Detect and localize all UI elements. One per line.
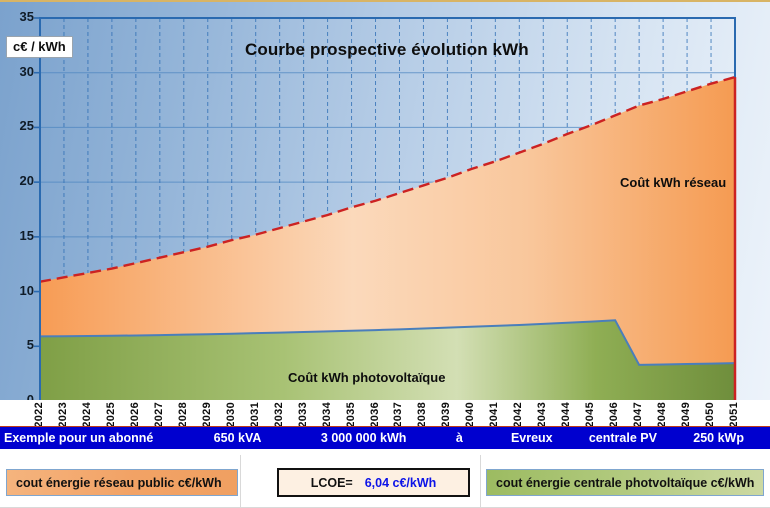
series-label-pv-cost: Coût kWh photovoltaïque — [288, 370, 445, 385]
info-subscribed-power: 650 kVA — [181, 431, 293, 445]
x-axis-tick: 2037 — [392, 402, 406, 428]
x-axis-tick: 2047 — [632, 402, 646, 428]
lcoe-value: 6,04 c€/kWh — [365, 476, 437, 490]
x-axis-tick: 2040 — [464, 402, 478, 428]
x-axis-tick: 2050 — [704, 402, 718, 428]
x-axis-tick: 2033 — [297, 402, 311, 428]
y-axis-tick: 25 — [4, 118, 34, 133]
plot-series — [40, 77, 735, 401]
series-label-grid-cost: Coût kWh réseau — [620, 175, 726, 190]
x-axis-tick: 2046 — [608, 402, 622, 428]
legend-pv-cost: cout énergie centrale photvoltaïque c€/k… — [486, 469, 764, 496]
info-bar: Exemple pour un abonné 650 kVA 3 000 000… — [0, 426, 770, 449]
x-axis-tick: 2024 — [81, 402, 95, 428]
x-axis-tick: 2049 — [680, 402, 694, 428]
x-axis-tick: 2025 — [105, 402, 119, 428]
x-axis-tick: 2044 — [560, 402, 574, 428]
x-axis-tick: 2032 — [273, 402, 287, 428]
x-axis-tick: 2028 — [177, 402, 191, 428]
y-axis-tick: 30 — [4, 64, 34, 79]
cell-divider — [480, 455, 481, 508]
x-axis-tick: 2026 — [129, 402, 143, 428]
x-axis-tick: 2045 — [584, 402, 598, 428]
chart-title: Courbe prospective évolution kWh — [245, 40, 529, 60]
x-axis-tick: 2048 — [656, 402, 670, 428]
info-plant-capacity: 250 kWp — [667, 431, 770, 445]
legend-grid-cost: cout énergie réseau public c€/kWh — [6, 469, 238, 496]
legend-grid-cost-label: cout énergie réseau public c€/kWh — [16, 476, 222, 490]
legend-row: cout énergie réseau public c€/kWh LCOE= … — [0, 455, 770, 508]
y-axis-tick: 35 — [4, 9, 34, 24]
x-axis-tick: 2030 — [225, 402, 239, 428]
legend-pv-cost-label: cout énergie centrale photvoltaïque c€/k… — [496, 476, 754, 490]
lcoe-box: LCOE= 6,04 c€/kWh — [277, 468, 470, 497]
x-axis-tick: 2043 — [536, 402, 550, 428]
x-axis-tick: 2029 — [201, 402, 215, 428]
info-plant-type: centrale PV — [579, 431, 668, 445]
cell-divider — [240, 455, 241, 508]
x-axis-tick: 2023 — [57, 402, 71, 428]
x-axis-tick: 2022 — [33, 402, 47, 428]
info-example: Exemple pour un abonné — [0, 431, 181, 445]
x-axis-tick: 2038 — [416, 402, 430, 428]
y-axis-tick: 10 — [4, 283, 34, 298]
lcoe-label: LCOE= — [311, 476, 353, 490]
y-axis: 05101520253035 — [0, 2, 34, 457]
info-preposition: à — [434, 431, 485, 445]
x-axis-tick: 2036 — [369, 402, 383, 428]
y-axis-tick: 20 — [4, 173, 34, 188]
x-axis-tick: 2051 — [728, 402, 742, 428]
x-axis-tick: 2027 — [153, 402, 167, 428]
info-consumption: 3 000 000 kWh — [294, 431, 434, 445]
x-axis-tick: 2035 — [345, 402, 359, 428]
x-axis-tick: 2034 — [321, 402, 335, 428]
y-axis-tick: 15 — [4, 228, 34, 243]
chart-screenshot: 05101520253035 c€ / kWh Courbe prospecti… — [0, 0, 770, 508]
info-city: Evreux — [485, 431, 578, 445]
x-axis-tick: 2039 — [440, 402, 454, 428]
y-axis-unit-label: c€ / kWh — [6, 36, 73, 58]
x-axis-tick: 2031 — [249, 402, 263, 428]
x-axis-tick: 2042 — [512, 402, 526, 428]
x-axis-tick: 2041 — [488, 402, 502, 428]
chart-canvas — [0, 2, 770, 457]
y-axis-tick: 5 — [4, 337, 34, 352]
chart-area: 05101520253035 c€ / kWh Courbe prospecti… — [0, 0, 770, 455]
